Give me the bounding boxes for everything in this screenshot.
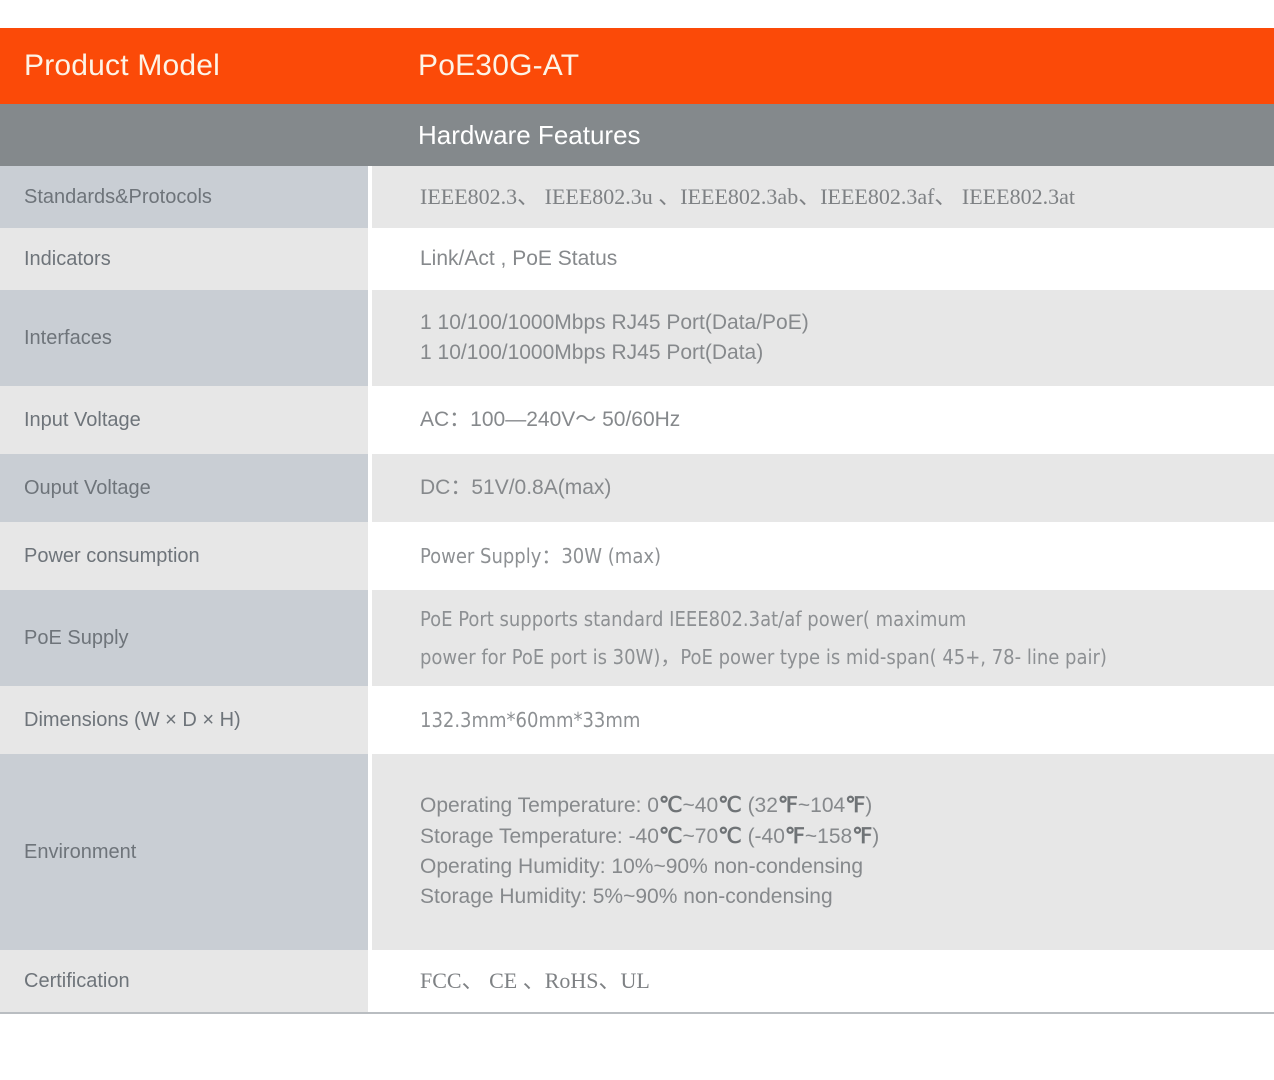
spec-key: PoE Supply — [0, 590, 368, 686]
spec-value-line: Operating Humidity: 10%~90% non-condensi… — [420, 852, 1254, 882]
spec-value-line: 1 10/100/1000Mbps RJ45 Port(Data) — [420, 338, 1254, 368]
spec-key: Environment — [0, 754, 368, 950]
table-bottom-rule — [0, 1012, 1274, 1014]
table-row: Certification FCC、 CE 、RoHS、UL — [0, 950, 1274, 1012]
spec-value-line: PoE Port supports standard IEEE802.3at/a… — [420, 600, 1254, 638]
spec-value-line: Link/Act , PoE Status — [420, 244, 1254, 274]
spec-key: Certification — [0, 950, 368, 1012]
table-row: Interfaces 1 10/100/1000Mbps RJ45 Port(D… — [0, 290, 1274, 386]
spec-value-line: power for PoE port is 30W)，PoE power typ… — [420, 638, 1254, 676]
hardware-features-section-header: Hardware Features — [0, 104, 1274, 166]
spec-value-line: IEEE802.3、 IEEE802.3u 、IEEE802.3ab、IEEE8… — [420, 181, 1254, 213]
spec-value: FCC、 CE 、RoHS、UL — [372, 950, 1274, 1012]
spec-value-line: Operating Temperature: 0℃~40℃ (32℉~104℉) — [420, 791, 1254, 821]
spec-key: Ouput Voltage — [0, 454, 368, 522]
spec-value: IEEE802.3、 IEEE802.3u 、IEEE802.3ab、IEEE8… — [372, 166, 1274, 228]
spec-value: 1 10/100/1000Mbps RJ45 Port(Data/PoE) 1 … — [372, 290, 1274, 386]
table-row: Input Voltage AC：100—240V～ 50/60Hz — [0, 386, 1274, 454]
spec-value-line: FCC、 CE 、RoHS、UL — [420, 965, 1254, 997]
spec-value: DC：51V/0.8A(max) — [372, 454, 1274, 522]
product-model-label: Product Model — [0, 49, 368, 83]
section-header-title: Hardware Features — [368, 120, 1274, 151]
spec-value-line: 1 10/100/1000Mbps RJ45 Port(Data/PoE) — [420, 308, 1254, 338]
spec-value: 132.3mm*60mm*33mm — [372, 686, 1274, 754]
spec-key: Power consumption — [0, 522, 368, 590]
spec-key: Input Voltage — [0, 386, 368, 454]
spec-value: Power Supply：30W (max) — [372, 522, 1274, 590]
spec-value-line: Storage Temperature: -40℃~70℃ (-40℉~158℉… — [420, 822, 1254, 852]
table-row: Power consumption Power Supply：30W (max) — [0, 522, 1274, 590]
spec-value: PoE Port supports standard IEEE802.3at/a… — [372, 590, 1274, 686]
spec-key: Interfaces — [0, 290, 368, 386]
spec-value-line: DC：51V/0.8A(max) — [420, 473, 1254, 503]
spec-key: Dimensions (W × D × H) — [0, 686, 368, 754]
spec-value: Operating Temperature: 0℃~40℃ (32℉~104℉)… — [372, 754, 1274, 950]
spec-value-line: Power Supply：30W (max) — [420, 537, 1254, 575]
spec-key: Indicators — [0, 228, 368, 290]
spec-value-line: Storage Humidity: 5%~90% non-condensing — [420, 882, 1254, 912]
table-row: Indicators Link/Act , PoE Status — [0, 228, 1274, 290]
product-model-value: PoE30G-AT — [368, 49, 1274, 83]
table-row: PoE Supply PoE Port supports standard IE… — [0, 590, 1274, 686]
table-row: Ouput Voltage DC：51V/0.8A(max) — [0, 454, 1274, 522]
table-row: Environment Operating Temperature: 0℃~40… — [0, 754, 1274, 950]
spec-value-line: 132.3mm*60mm*33mm — [420, 701, 1254, 739]
spec-value: AC：100—240V～ 50/60Hz — [372, 386, 1274, 454]
section-header-spacer — [0, 104, 368, 166]
spec-value: Link/Act , PoE Status — [372, 228, 1274, 290]
spec-value-line: AC：100—240V～ 50/60Hz — [420, 405, 1254, 435]
table-row: Dimensions (W × D × H) 132.3mm*60mm*33mm — [0, 686, 1274, 754]
spec-key: Standards&Protocols — [0, 166, 368, 228]
product-spec-sheet: Product Model PoE30G-AT Hardware Feature… — [0, 0, 1274, 1014]
product-model-header: Product Model PoE30G-AT — [0, 28, 1274, 104]
table-row: Standards&Protocols IEEE802.3、 IEEE802.3… — [0, 166, 1274, 228]
